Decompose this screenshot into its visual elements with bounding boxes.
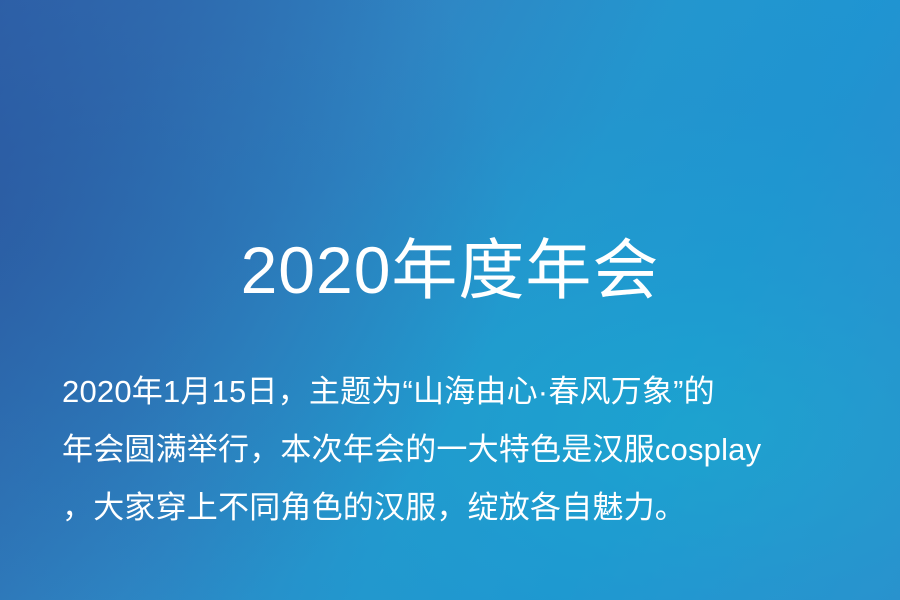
annual-meeting-banner: 2020年度年会 2020年1月15日，主题为“山海由心·春风万象”的 年会圆满… xyxy=(0,0,900,600)
description-line: 年会圆满举行，本次年会的一大特色是汉服cosplay xyxy=(62,421,862,479)
description-line: 2020年1月15日，主题为“山海由心·春风万象”的 xyxy=(62,363,862,421)
description-line: ，大家穿上不同角色的汉服，绽放各自魅力。 xyxy=(62,479,862,537)
banner-description: 2020年1月15日，主题为“山海由心·春风万象”的 年会圆满举行，本次年会的一… xyxy=(62,363,862,537)
banner-content: 2020年度年会 2020年1月15日，主题为“山海由心·春风万象”的 年会圆满… xyxy=(0,0,900,600)
page-title: 2020年度年会 xyxy=(0,230,900,310)
